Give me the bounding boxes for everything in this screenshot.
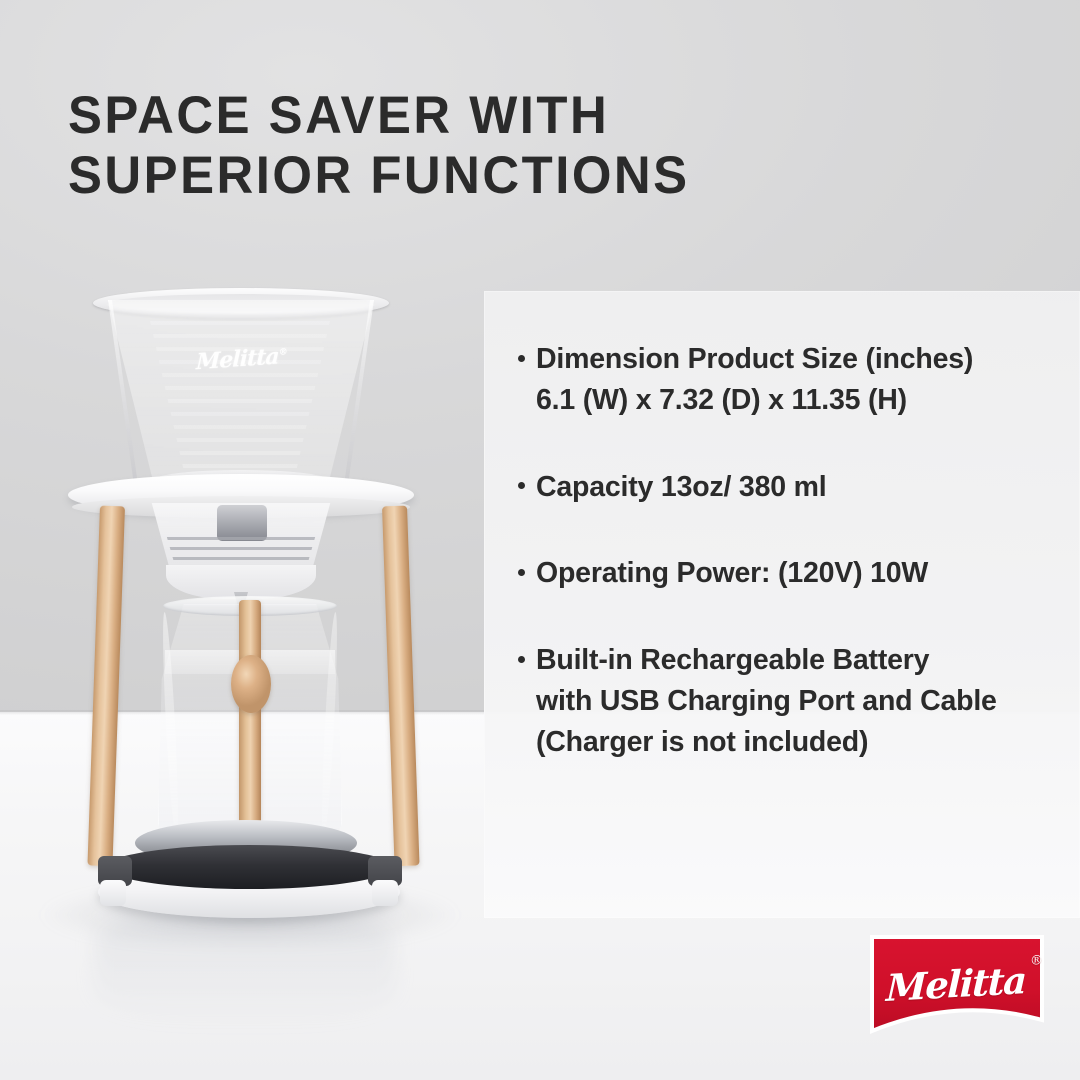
spec-text: Operating Power: (120V) 10W: [536, 553, 1060, 594]
bullet-icon: [518, 569, 525, 576]
melitta-wordmark: Melitta®: [869, 934, 1045, 1046]
spec-text: Built-in Rechargeable Battery with USB C…: [536, 640, 1060, 762]
base-foot-tip-right-icon: [372, 880, 398, 906]
list-item: Built-in Rechargeable Battery with USB C…: [516, 640, 1060, 762]
registered-trademark-icon: ®: [1030, 953, 1043, 969]
cone-registered-mark: ®: [279, 347, 287, 358]
base-foot-tip-left-icon: [100, 880, 126, 906]
spec-text: Dimension Product Size (inches) 6.1 (W) …: [536, 339, 1060, 421]
wooden-leg-left-icon: [87, 506, 125, 867]
base-dark-ring-icon: [106, 845, 392, 889]
wooden-knob-icon: [231, 655, 271, 713]
list-item: Operating Power: (120V) 10W: [516, 553, 1060, 594]
bullet-icon: [518, 355, 525, 362]
melitta-logo: Melitta®: [869, 934, 1045, 1046]
product-image-coffee-maker: Melitta®: [0, 0, 480, 960]
melitta-wordmark-text: Melitta®: [886, 958, 1027, 1010]
specification-list: Dimension Product Size (inches) 6.1 (W) …: [516, 339, 1060, 762]
product-feature-card: SPACE SAVER WITH SUPERIOR FUNCTIONS Meli…: [0, 0, 1080, 1080]
bullet-icon: [518, 482, 525, 489]
filter-holder-grille-icon: [160, 530, 322, 570]
list-item: Dimension Product Size (inches) 6.1 (W) …: [516, 339, 1060, 421]
bullet-icon: [518, 656, 525, 663]
specification-panel: Dimension Product Size (inches) 6.1 (W) …: [484, 291, 1080, 918]
spec-text: Capacity 13oz/ 380 ml: [536, 467, 1060, 508]
list-item: Capacity 13oz/ 380 ml: [516, 467, 1060, 508]
wooden-leg-right-icon: [382, 506, 420, 867]
